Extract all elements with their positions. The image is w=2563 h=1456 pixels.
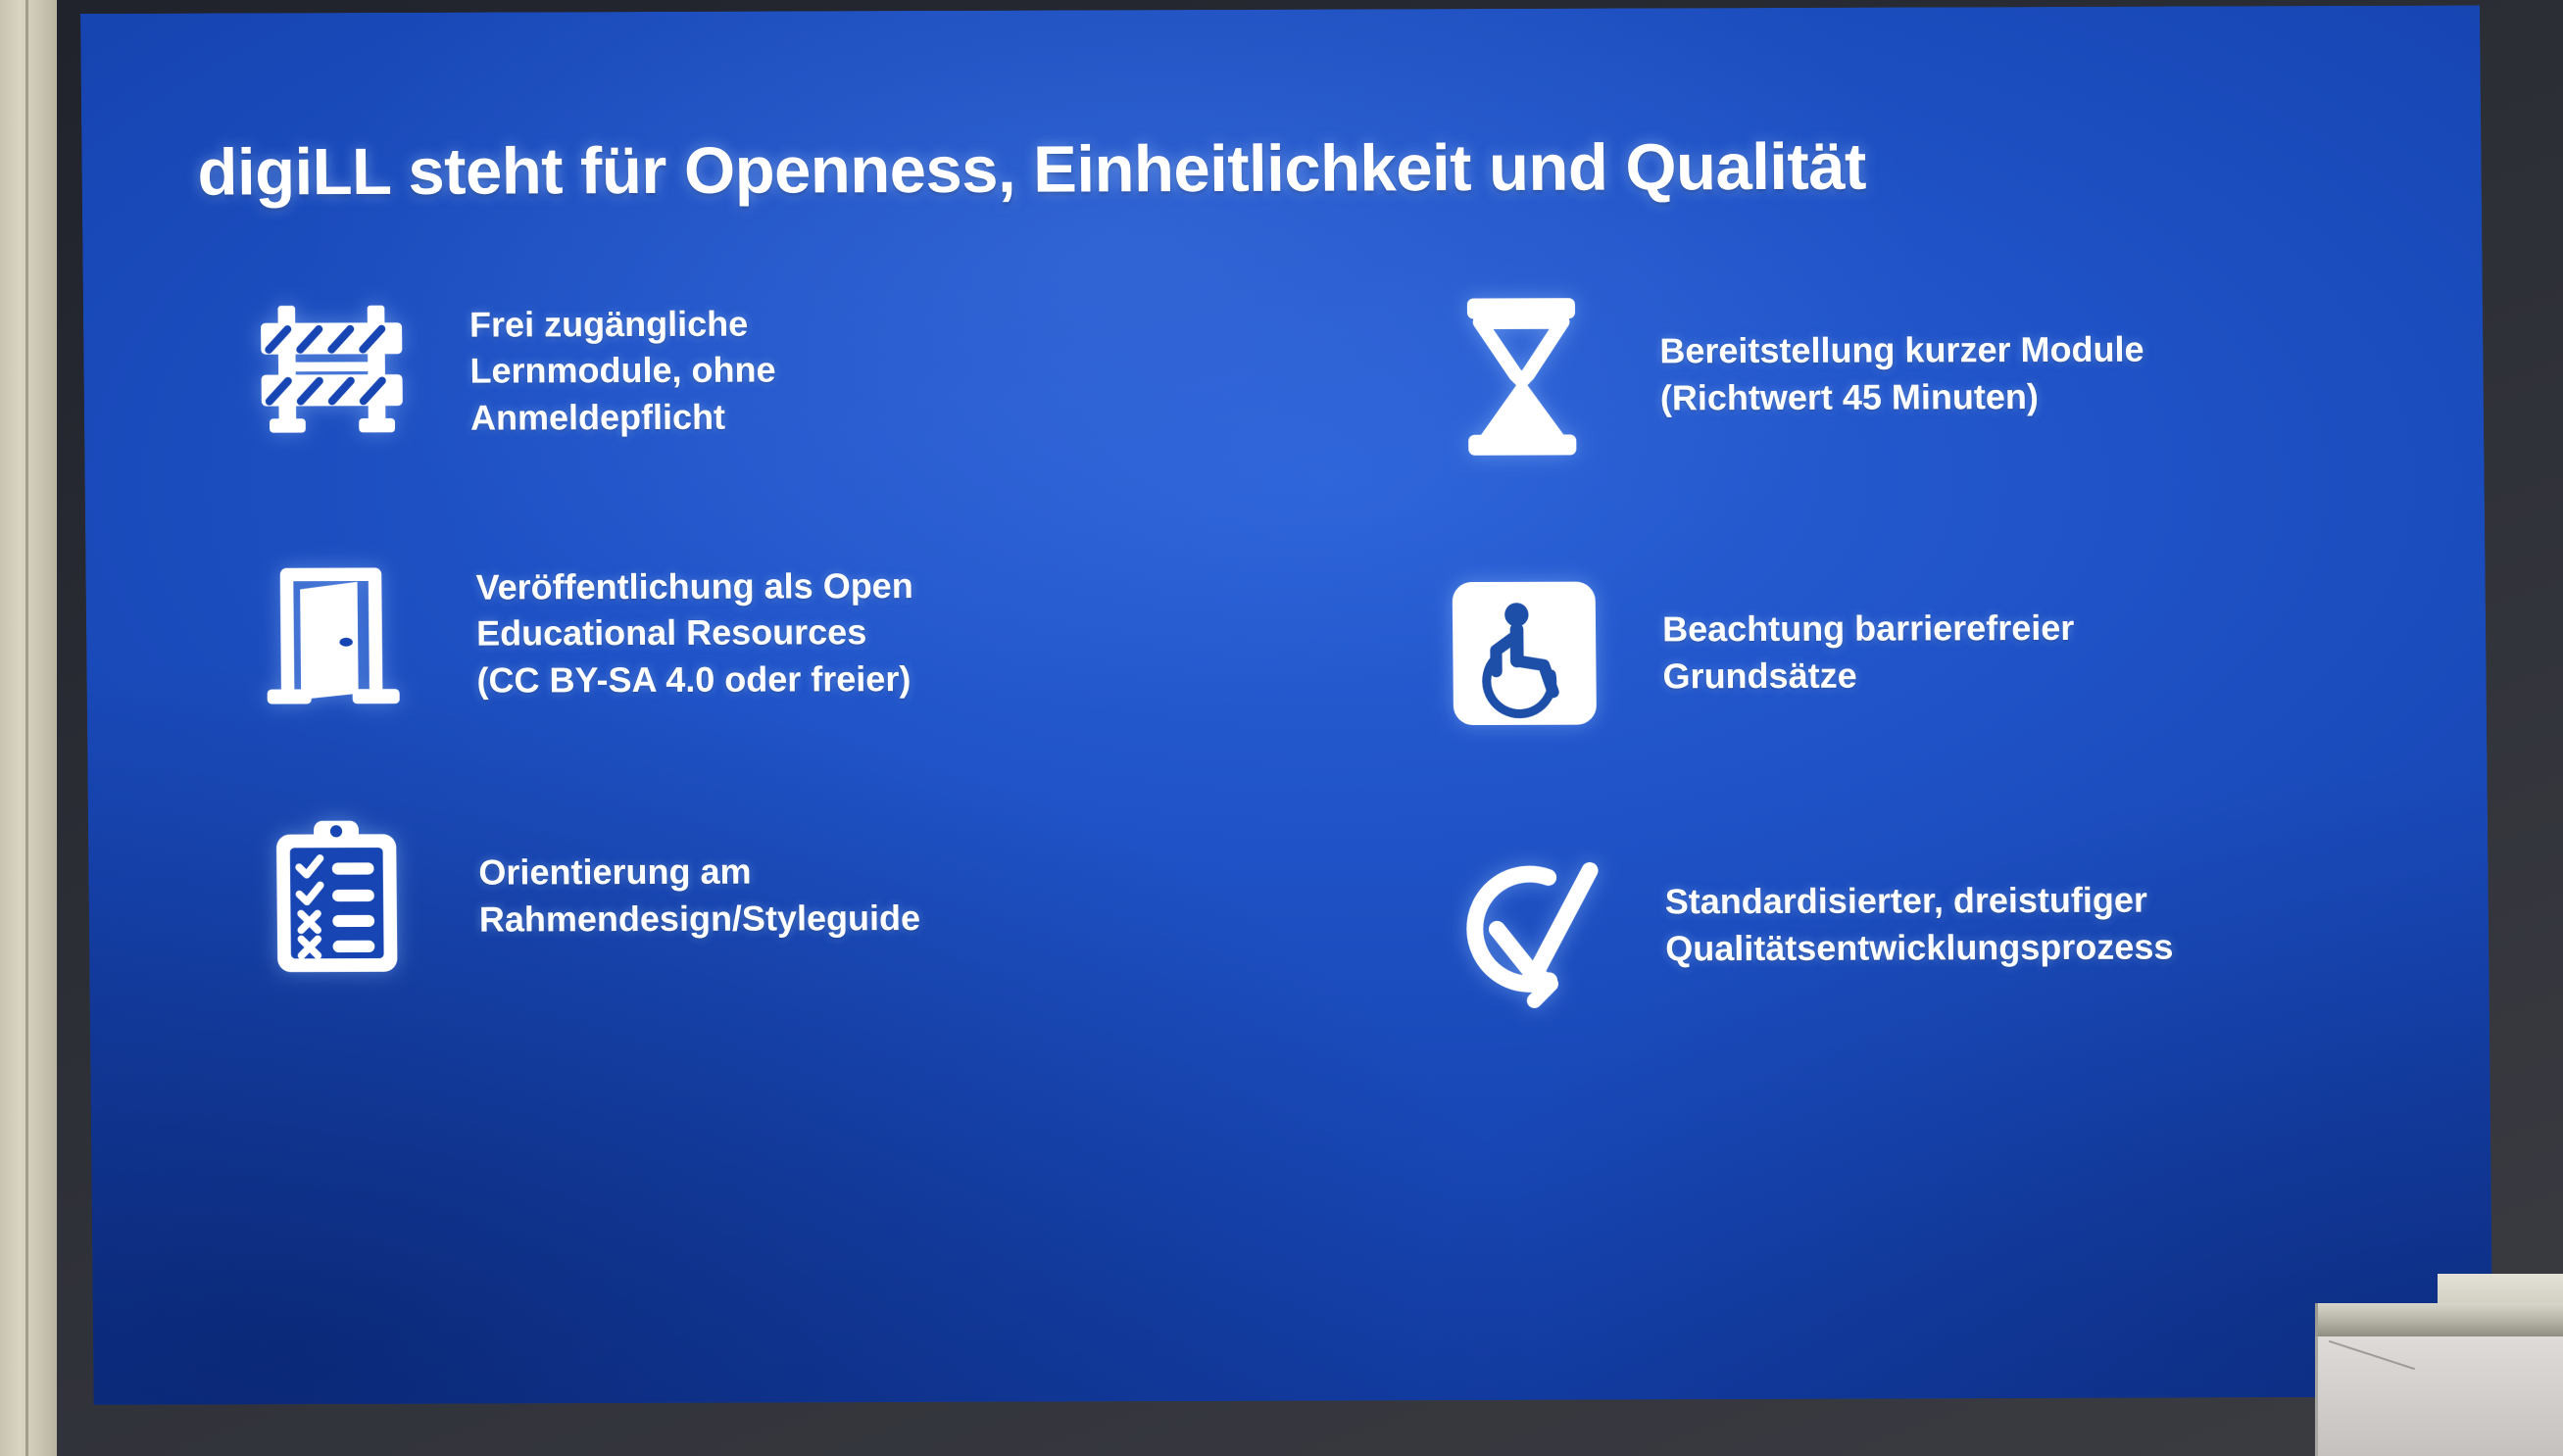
- feature-item: Beachtung barrierefreier Grundsätze: [1440, 518, 2488, 785]
- slide-title: digiLL steht für Openness, Einheitlichke…: [197, 129, 2354, 209]
- feature-line: Veröffentlichung als Open: [475, 562, 913, 610]
- open-door-icon: [250, 551, 419, 718]
- feature-line: (CC BY-SA 4.0 oder freier): [476, 655, 914, 704]
- slide-content: digiLL steht für Openness, Einheitlichke…: [80, 5, 2493, 1404]
- flipchart: [2309, 1303, 2563, 1456]
- flipchart-rail: [2315, 1303, 2563, 1336]
- feature-column-left: Frei zugängliche Lernmodule, ohne Anmeld…: [82, 237, 1300, 1062]
- feature-text: Bereitstellung kurzer Module (Richtwert …: [1659, 326, 2144, 421]
- feature-line: Lernmodule, ohne: [469, 347, 775, 395]
- hourglass-icon: [1438, 292, 1606, 460]
- feature-line: Grundsätze: [1662, 652, 2075, 700]
- feature-line: Rahmendesign/Styleguide: [479, 895, 921, 943]
- feature-item: Frei zugängliche Lernmodule, ohne Anmeld…: [247, 237, 1295, 504]
- feature-line: Beachtung barrierefreier: [1662, 605, 2075, 653]
- feature-line: Frei zugängliche: [469, 300, 775, 348]
- flipchart-paper: [2315, 1336, 2563, 1456]
- barrier-icon: [248, 288, 417, 456]
- feature-line: Qualitätsentwicklungsprozess: [1665, 924, 2174, 972]
- feature-line: Orientierung am: [478, 848, 920, 896]
- feature-item: Orientierung am Rahmendesign/Styleguide: [252, 762, 1300, 1029]
- feature-line: Educational Resources: [476, 608, 914, 656]
- wall-left: [0, 0, 57, 1456]
- quality-cycle-check-icon: [1443, 843, 1611, 1010]
- feature-text: Beachtung barrierefreier Grundsätze: [1662, 605, 2075, 699]
- feature-grid: Frei zugängliche Lernmodule, ohne Anmeld…: [82, 232, 2489, 1062]
- feature-column-right: Bereitstellung kurzer Module (Richtwert …: [1292, 232, 2489, 1057]
- feature-item: Standardisierter, dreistufiger Qualitäts…: [1443, 791, 2490, 1057]
- feature-item: Bereitstellung kurzer Module (Richtwert …: [1437, 240, 2485, 507]
- clipboard-checklist-icon: [253, 813, 421, 981]
- room-scene: digiLL steht für Openness, Einheitlichke…: [0, 0, 2563, 1456]
- feature-line: Standardisierter, dreistufiger: [1665, 877, 2174, 925]
- feature-text: Standardisierter, dreistufiger Qualitäts…: [1665, 877, 2174, 972]
- feature-line: (Richtwert 45 Minuten): [1660, 373, 2145, 421]
- slide-background: digiLL steht für Openness, Einheitlichke…: [80, 5, 2493, 1404]
- feature-text: Veröffentlichung als Open Educational Re…: [475, 562, 913, 704]
- feature-text: Orientierung am Rahmendesign/Styleguide: [478, 848, 920, 943]
- projected-slide: digiLL steht für Openness, Einheitlichke…: [80, 5, 2493, 1404]
- wheelchair-accessibility-icon: [1441, 570, 1609, 738]
- feature-line: Bereitstellung kurzer Module: [1659, 326, 2144, 374]
- feature-line: Anmeldepflicht: [470, 393, 776, 441]
- feature-text: Frei zugängliche Lernmodule, ohne Anmeld…: [469, 300, 776, 441]
- feature-item: Veröffentlichung als Open Educational Re…: [250, 500, 1298, 766]
